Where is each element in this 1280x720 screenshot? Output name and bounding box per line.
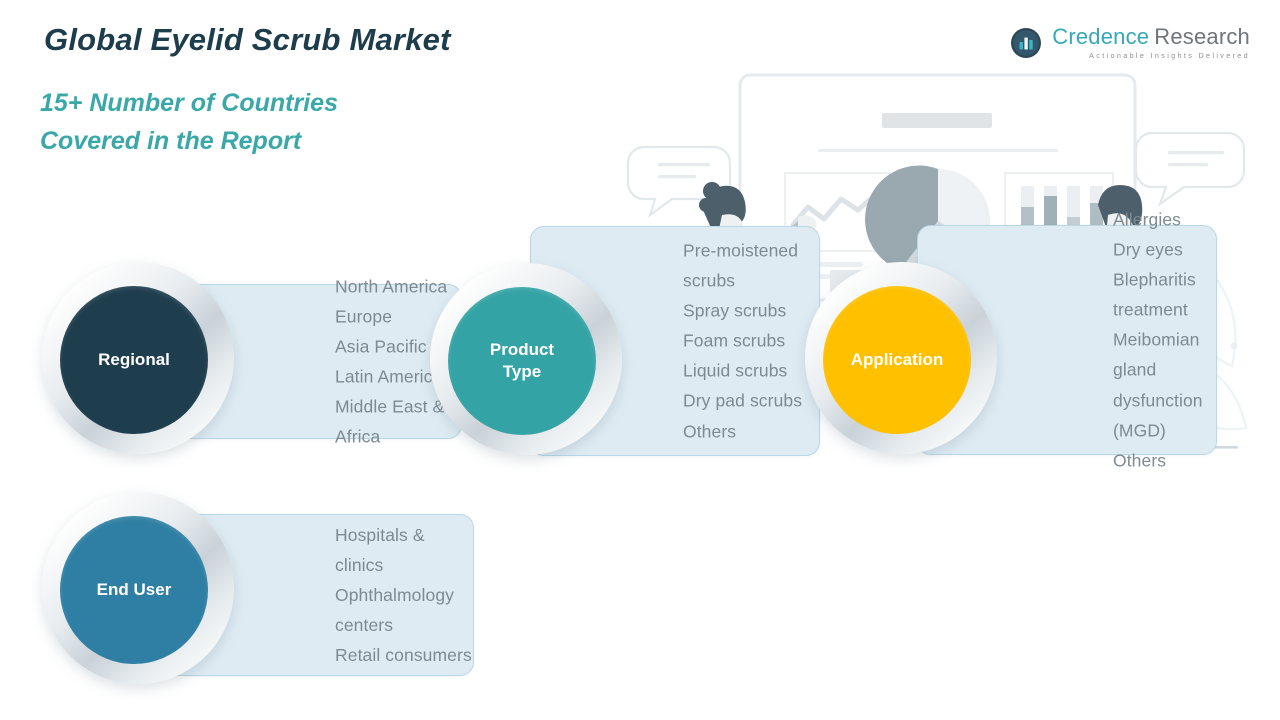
speech-bubble-left-icon [628,147,730,215]
segment-card-product-type[interactable]: Pre-moistened scrubs Spray scrubs Foam s… [430,226,850,466]
segment-card-end-user[interactable]: Hospitals & clinics Ophthalmology center… [42,492,442,692]
segment-items-end-user: Hospitals & clinics Ophthalmology center… [335,520,473,670]
logo-text-block: CredenceResearch Actionable Insights Del… [1052,26,1250,59]
segment-label-regional[interactable]: Regional [60,286,208,434]
logo-tagline: Actionable Insights Delivered [1052,52,1250,59]
logo-brand-primary: Credence [1052,24,1149,49]
logo-brand-secondary: Research [1154,24,1250,49]
segment-items-application: Allergies Dry eyes Blepharitis treatment… [1113,205,1216,476]
speech-bubble-right-icon [1136,133,1244,204]
segment-card-regional[interactable]: North America Europe Asia Pacific Latin … [42,262,442,462]
segment-label-product-type[interactable]: Product Type [448,287,596,435]
segment-label-application[interactable]: Application [823,286,971,434]
segment-label-end-user[interactable]: End User [60,516,208,664]
page-subtitle: 15+ Number of Countries Covered in the R… [40,84,338,160]
infographic-canvas: Global Eyelid Scrub Market 15+ Number of… [0,0,1280,720]
brand-logo[interactable]: CredenceResearch Actionable Insights Del… [1009,26,1250,60]
chart-circle-logo-icon [1009,26,1043,60]
segment-items-product-type: Pre-moistened scrubs Spray scrubs Foam s… [683,236,819,447]
segment-card-application[interactable]: Allergies Dry eyes Blepharitis treatment… [805,225,1230,470]
page-title: Global Eyelid Scrub Market [44,22,451,58]
logo-wordmark: CredenceResearch [1052,26,1250,48]
